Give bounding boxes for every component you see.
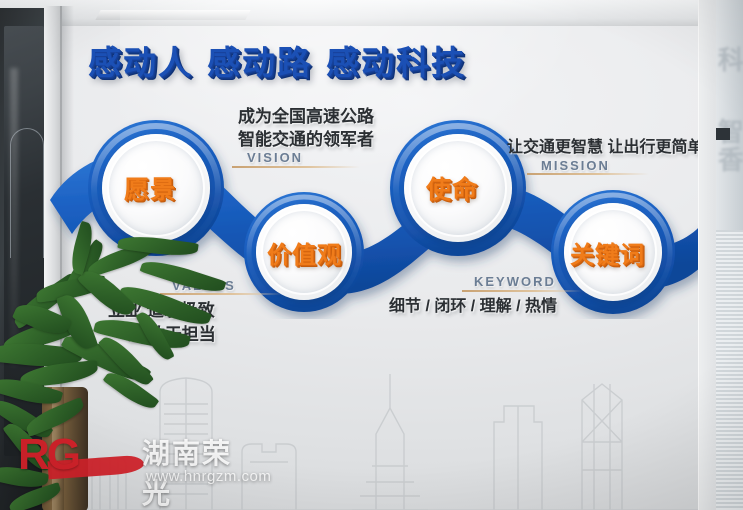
headline-segment-3: 感动科技 [326, 44, 466, 81]
node-word-keyword: 关键词 [570, 235, 645, 270]
node-word-mission: 使命 [426, 170, 478, 206]
blurred-char-3: 香 [718, 140, 742, 177]
keyword-line-1: 细节 / 闭环 / 理解 / 热情 [389, 292, 557, 316]
node-word-vision: 愿景 [124, 170, 176, 206]
mission-line-1: 让交通更智慧 让出行更简单 [507, 133, 703, 157]
page-title: 感动人感动路感动科技 [88, 36, 480, 84]
headline-segment-1: 感动人 [88, 44, 193, 81]
keyword-label: KEYWORD [474, 274, 556, 289]
headline-segment-2: 感动路 [207, 44, 312, 81]
mission-label: MISSION [541, 158, 610, 173]
right-glass-panel: 科 智 香 [716, 0, 743, 510]
blurred-char-1: 科 [718, 40, 742, 77]
glass-slats [716, 230, 743, 510]
vision-line-1: 成为全国高速公路 [238, 102, 374, 127]
vision-underline [232, 166, 360, 168]
mission-underline [527, 173, 649, 175]
watermark: RG 湖南荣光 www.hnrgzm.com [18, 430, 248, 492]
watermark-url: www.hnrgzm.com [146, 468, 271, 485]
glass-fitting [716, 128, 730, 140]
node-word-values: 价值观 [267, 235, 342, 270]
photo-scene: 感动人感动路感动科技 [0, 0, 743, 510]
watermark-logo: RG [18, 430, 78, 480]
vision-label: VISION [247, 150, 303, 165]
ceiling-lip [95, 10, 250, 20]
vision-line-2: 智能交通的领军者 [238, 125, 374, 150]
